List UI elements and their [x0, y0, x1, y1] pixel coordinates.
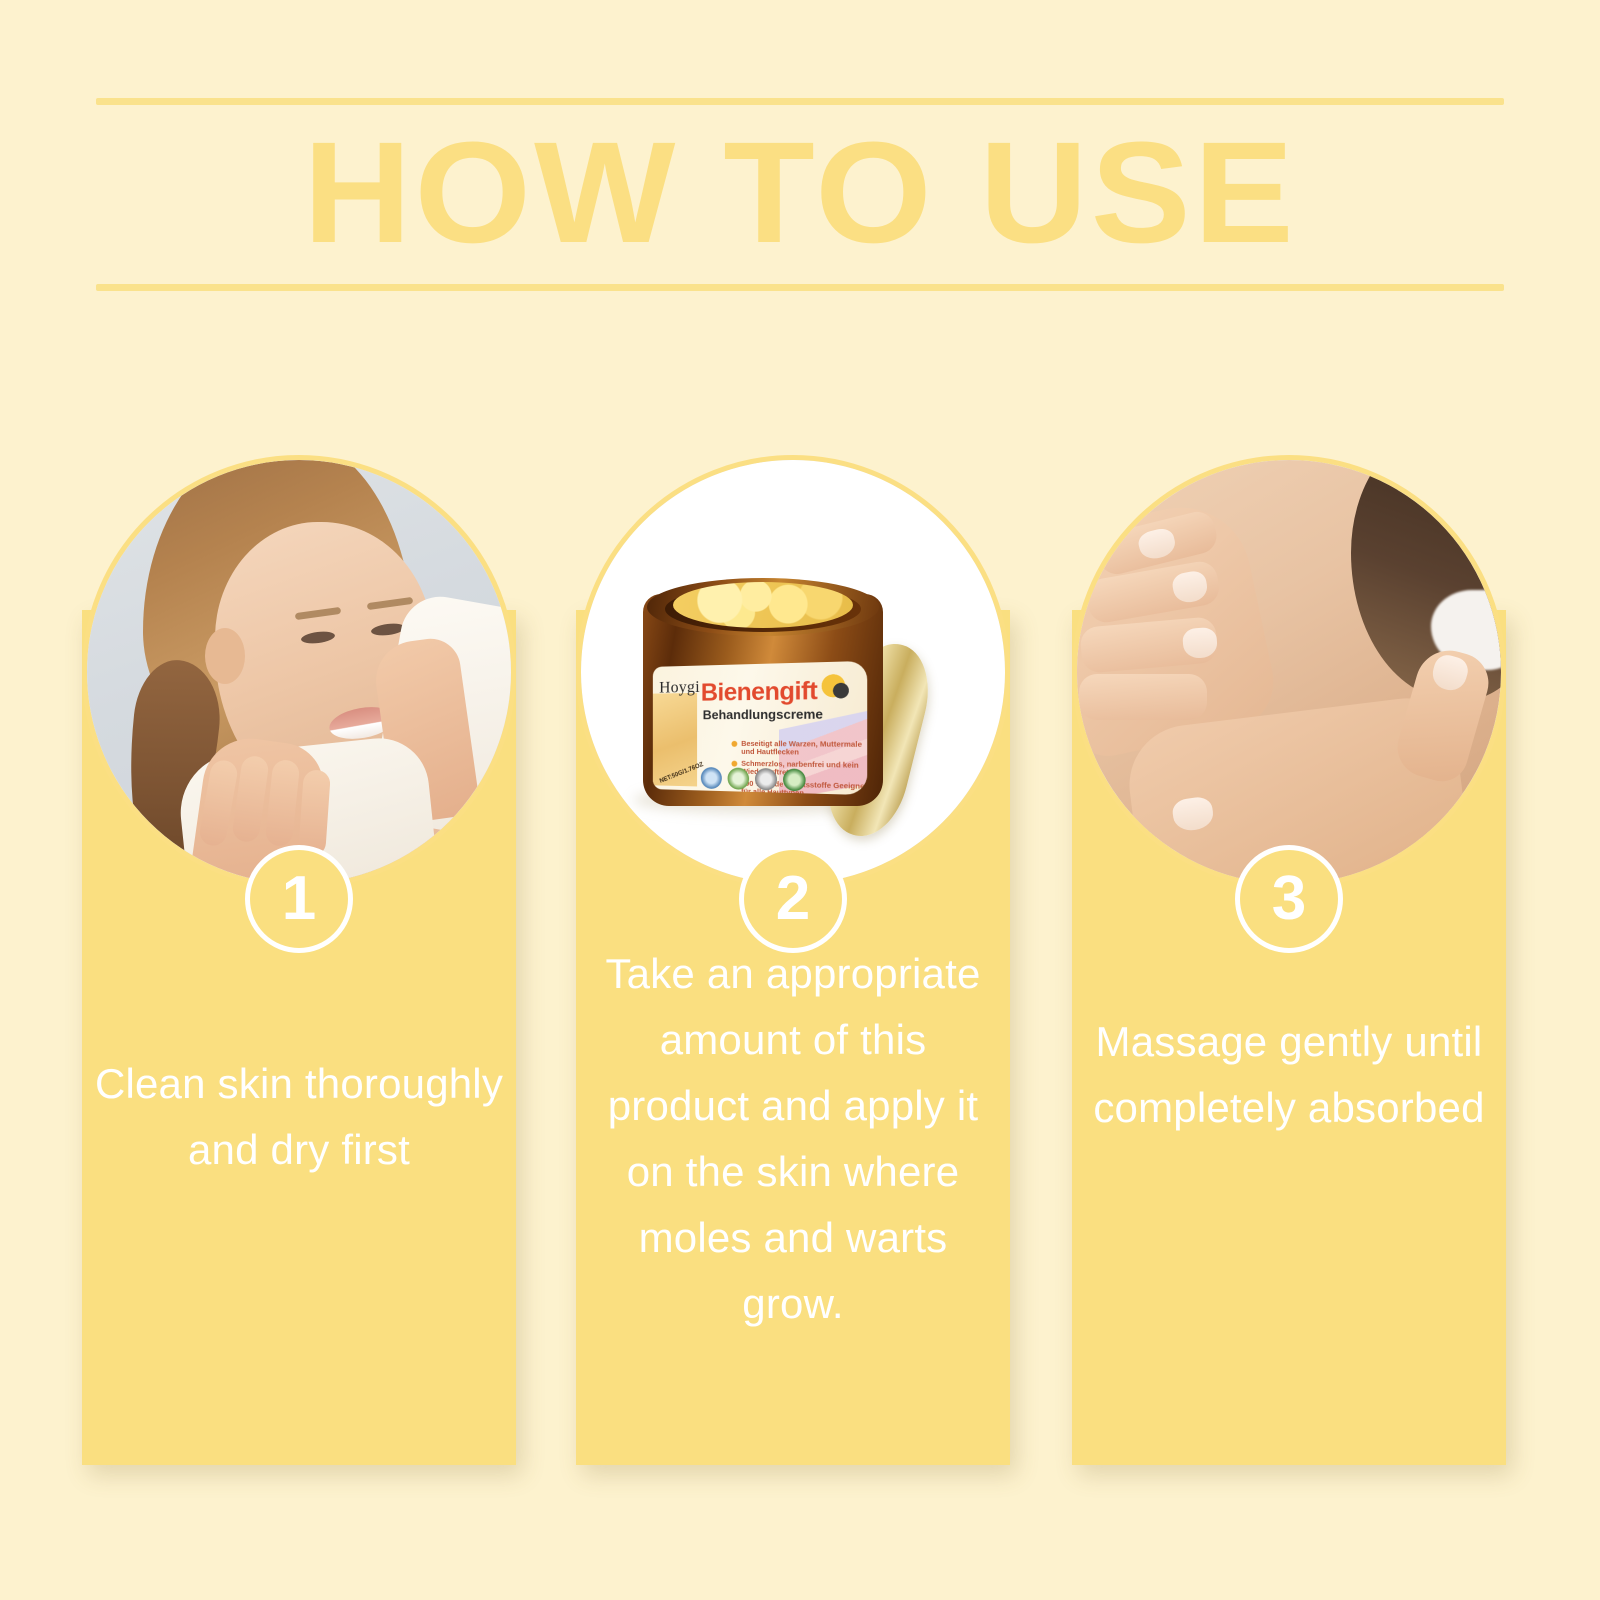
step-badge-2: 2: [739, 845, 847, 953]
jar-cream-contents: [673, 582, 853, 628]
certification-badge-icon: [701, 767, 722, 789]
certification-badges: [701, 767, 806, 791]
bee-venom-treatment-cream-jar-image: Hoygi Bienengift Behandlungscreme Beseit…: [581, 460, 1005, 884]
step-number-2: 2: [776, 868, 810, 930]
step-photo-3: [1072, 455, 1506, 889]
steps-container: 1 Clean skin thoroughly and dry first: [0, 0, 1600, 1600]
cruelty-free-icon: [755, 768, 777, 791]
step-photo-1: [82, 455, 516, 889]
bee-icon: [818, 672, 856, 704]
product-subtitle: Behandlungscreme: [703, 706, 823, 722]
leaf-certification-icon: [728, 768, 749, 790]
step-photo-2: Hoygi Bienengift Behandlungscreme Beseit…: [576, 455, 1010, 889]
finger: [1079, 674, 1207, 720]
step-number-1: 1: [282, 868, 316, 930]
natural-certification-icon: [783, 768, 806, 791]
step-caption-1: Clean skin thoroughly and dry first: [82, 1051, 516, 1183]
step-card-3: 3 Massage gently until completely absorb…: [1072, 455, 1506, 1465]
step-card-2: Hoygi Bienengift Behandlungscreme Beseit…: [576, 455, 1010, 1465]
step-badge-1: 1: [245, 845, 353, 953]
product-brand: Hoygi: [659, 677, 700, 697]
jar-label: Hoygi Bienengift Behandlungscreme Beseit…: [653, 661, 867, 795]
product-title: Bienengift: [701, 677, 817, 708]
woman-drying-face-with-towel-image: [87, 460, 511, 884]
product-jar: Hoygi Bienengift Behandlungscreme Beseit…: [643, 556, 883, 806]
step-caption-2: Take an appropriate amount of this produ…: [576, 941, 1010, 1337]
step-number-3: 3: [1272, 868, 1306, 930]
step-badge-3: 3: [1235, 845, 1343, 953]
product-bullet: Beseitigt alle Warzen, Muttermale und Ha…: [731, 740, 867, 758]
step-card-1: 1 Clean skin thoroughly and dry first: [82, 455, 516, 1465]
ear-shape: [205, 628, 245, 684]
step-caption-3: Massage gently until completely absorbed: [1072, 1009, 1506, 1141]
hands-massaging-cheek-image: [1077, 460, 1501, 884]
